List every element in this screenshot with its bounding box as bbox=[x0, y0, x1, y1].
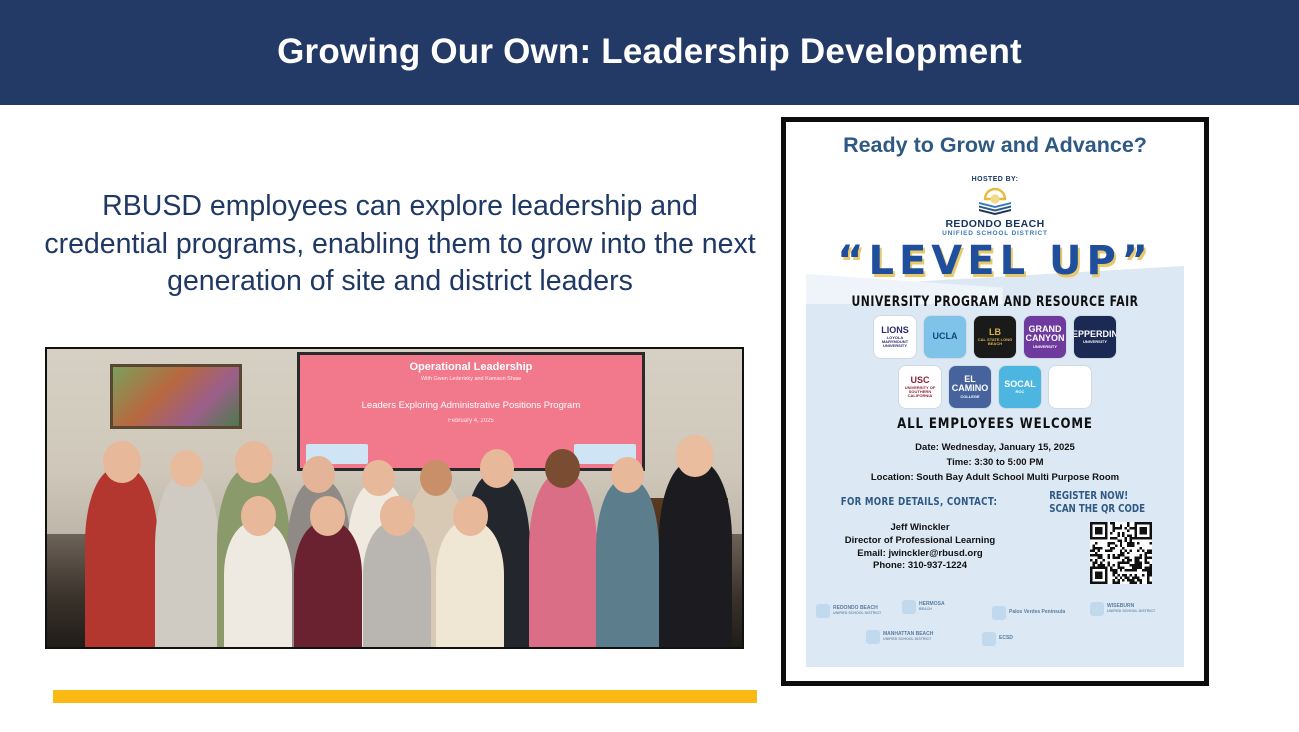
photo-person-head bbox=[235, 441, 273, 484]
photo-person-head bbox=[241, 496, 276, 536]
level-up-flyer: Ready to Grow and Advance? HOSTED BY: RE… bbox=[781, 117, 1209, 686]
wiseburn-usd-logo: WISEBURNUNIFIED SCHOOL DISTRICT bbox=[1090, 602, 1155, 616]
contact-details: Jeff Winckler Director of Professional L… bbox=[814, 522, 1026, 573]
partner-logo-mark-icon bbox=[1090, 602, 1104, 616]
all-employees-welcome: ALL EMPLOYEES WELCOME bbox=[825, 416, 1165, 432]
redondo-beach-district-logo-icon bbox=[973, 186, 1017, 216]
photo-person-head bbox=[676, 435, 714, 478]
el-camino-college-logo: EL CAMINOCOLLEGE bbox=[949, 366, 991, 408]
manhattan-beach-usd-logo: MANHATTAN BEACHUNIFIED SCHOOL DISTRICT bbox=[866, 630, 933, 644]
partner-logo-mark-icon bbox=[902, 600, 916, 614]
grand-canyon-university-logo: GRAND CANYONUNIVERSITY bbox=[1024, 316, 1066, 358]
partner-logo-label: REDONDO BEACHUNIFIED SCHOOL DISTRICT bbox=[833, 606, 881, 615]
qr-code[interactable] bbox=[1090, 522, 1152, 584]
photo-person bbox=[155, 474, 219, 647]
partner-logo-label: WISEBURNUNIFIED SCHOOL DISTRICT bbox=[1107, 604, 1155, 613]
event-time: Time: 3:30 to 5:00 PM bbox=[806, 457, 1184, 468]
photo-person bbox=[363, 522, 431, 647]
photo-person bbox=[224, 522, 292, 647]
photo-person-head bbox=[103, 441, 141, 484]
photo-person bbox=[85, 468, 158, 647]
photo-person bbox=[596, 480, 659, 647]
usc-logo: USCUNIVERSITY OF SOUTHERN CALIFORNIA bbox=[899, 366, 941, 408]
cal-state-long-beach-logo: LBCAL STATE LONG BEACH bbox=[974, 316, 1016, 358]
flyer-title: “LEVEL UP” bbox=[806, 238, 1184, 284]
hosted-by-label: HOSTED BY: bbox=[806, 176, 1184, 183]
photo-person bbox=[529, 474, 597, 647]
socal-roc-logo: SOCALROC bbox=[999, 366, 1041, 408]
page-title: Growing Our Own: Leadership Development bbox=[277, 33, 1022, 72]
contact-title: Director of Professional Learning bbox=[814, 535, 1026, 548]
ecsd-logo: ECSD bbox=[982, 632, 1013, 646]
flyer-card: HOSTED BY: REDONDO BEACH UNIFIED SCHOOL … bbox=[806, 170, 1184, 667]
district-subtitle: UNIFIED SCHOOL DISTRICT bbox=[806, 230, 1184, 237]
slide-header-band: Growing Our Own: Leadership Development bbox=[0, 0, 1299, 105]
loyola-marymount-lions-logo: LIONSLOYOLA MARYMOUNT UNIVERSITY bbox=[874, 316, 916, 358]
palos-verdes-peninsula-logo: Palos Verdes Peninsula bbox=[992, 606, 1065, 620]
photo-person bbox=[659, 462, 732, 647]
photo-person bbox=[294, 522, 362, 647]
partner-logo-label: ECSD bbox=[999, 636, 1013, 641]
partner-district-logos: REDONDO BEACHUNIFIED SCHOOL DISTRICTHERM… bbox=[806, 598, 1184, 662]
ucla-logo: UCLA bbox=[924, 316, 966, 358]
photo-person bbox=[436, 522, 504, 647]
partner-logo-label: MANHATTAN BEACHUNIFIED SCHOOL DISTRICT bbox=[883, 632, 933, 641]
contact-name: Jeff Winckler bbox=[814, 522, 1026, 535]
photo-person-head bbox=[611, 457, 644, 493]
flyer-heading: Ready to Grow and Advance? bbox=[786, 133, 1204, 158]
partner-logo-mark-icon bbox=[982, 632, 996, 646]
register-heading-line: REGISTER NOW! bbox=[1049, 490, 1169, 503]
hermosa-beach-logo: HERMOSABEACH bbox=[902, 600, 945, 614]
redondo-beach-usd-logo: REDONDO BEACHUNIFIED SCHOOL DISTRICT bbox=[816, 604, 881, 618]
flyer-subtitle: UNIVERSITY PROGRAM AND RESOURCE FAIR bbox=[832, 294, 1157, 310]
photo-person-head bbox=[480, 449, 514, 487]
qr-code-canvas bbox=[1090, 522, 1152, 584]
partner-logo-mark-icon bbox=[866, 630, 880, 644]
event-location: Location: South Bay Adult School Multi P… bbox=[806, 472, 1184, 483]
contact-phone: Phone: 310-937-1224 bbox=[814, 560, 1026, 573]
pepperdine-university-logo: PEPPERDINEUNIVERSITY bbox=[1074, 316, 1116, 358]
accent-bar bbox=[53, 690, 757, 703]
photo-person-head bbox=[453, 496, 488, 536]
body-text: RBUSD employees can explore leadership a… bbox=[40, 188, 760, 301]
partner-logo-label: Palos Verdes Peninsula bbox=[1009, 610, 1065, 615]
district-name: REDONDO BEACH bbox=[806, 218, 1184, 230]
register-heading-line: SCAN THE QR CODE bbox=[1049, 503, 1169, 516]
photo-person-head bbox=[380, 496, 415, 536]
register-heading: REGISTER NOW!SCAN THE QR CODE bbox=[1049, 490, 1169, 516]
group-photo-scene: Operational Leadership With Gwen Lederis… bbox=[47, 349, 742, 647]
group-photo: Operational Leadership With Gwen Lederis… bbox=[45, 347, 744, 649]
west-coast-university-logo bbox=[1049, 366, 1091, 408]
photo-person-head bbox=[362, 460, 395, 496]
photo-people bbox=[47, 349, 742, 647]
university-logo-row-2: USCUNIVERSITY OF SOUTHERN CALIFORNIAEL C… bbox=[806, 366, 1184, 408]
partner-logo-label: HERMOSABEACH bbox=[919, 602, 945, 611]
partner-logo-mark-icon bbox=[992, 606, 1006, 620]
university-logo-row-1: LIONSLOYOLA MARYMOUNT UNIVERSITYUCLALBCA… bbox=[806, 316, 1184, 358]
event-date: Date: Wednesday, January 15, 2025 bbox=[806, 442, 1184, 453]
flyer-inner: Ready to Grow and Advance? HOSTED BY: RE… bbox=[786, 122, 1204, 681]
contact-heading: FOR MORE DETAILS, CONTACT: bbox=[822, 496, 1015, 508]
partner-logo-mark-icon bbox=[816, 604, 830, 618]
contact-email: Email: jwinckler@rbusd.org bbox=[814, 548, 1026, 561]
